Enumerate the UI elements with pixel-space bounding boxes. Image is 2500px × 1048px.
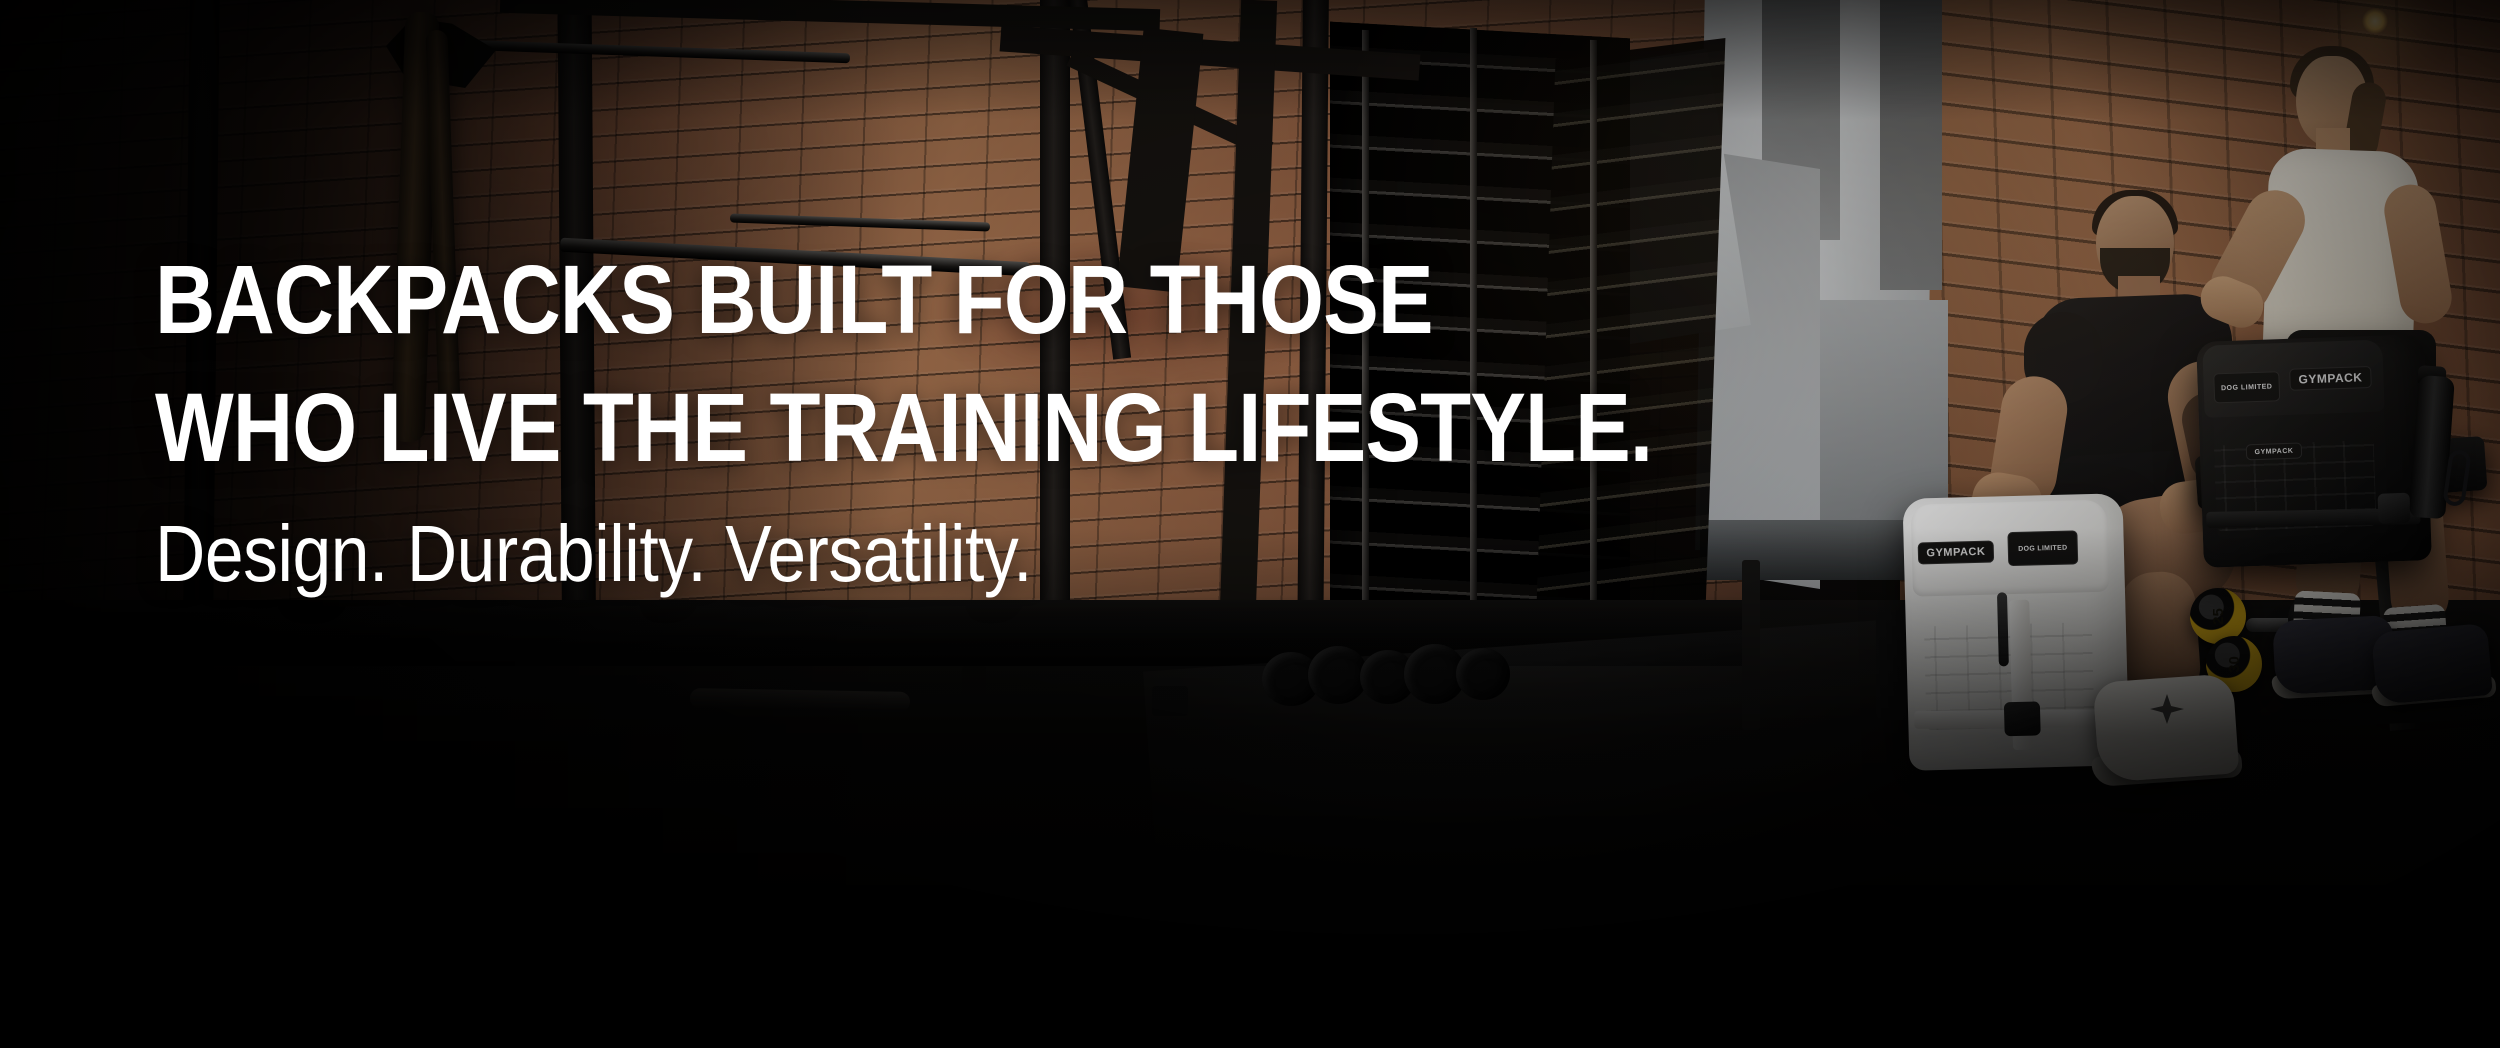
floor-mat-roll bbox=[690, 688, 910, 712]
white-backpack-buckle bbox=[2004, 701, 2041, 736]
black-backpack-buckle bbox=[2378, 493, 2411, 524]
dumbbell-5 bbox=[1456, 648, 1510, 700]
black-backpack-brand-patch: GYMPACK bbox=[2289, 366, 2372, 391]
hero-banner: 25 30 DOG LIMITED GYMPACK GYMPACK bbox=[0, 0, 2500, 1048]
woman-shoe-right bbox=[2371, 623, 2493, 705]
hero-headline: BACKPACKS BUILT FOR THOSE WHO LIVE THE T… bbox=[155, 236, 1652, 492]
hero-subheadline: Design. Durability. Versatility. bbox=[155, 506, 1670, 602]
black-backpack-small-patch: GYMPACK bbox=[2246, 442, 2303, 460]
man-shoe bbox=[2093, 673, 2240, 783]
black-backpack-limited-patch: DOG LIMITED bbox=[2213, 371, 2280, 403]
hero-copy-block: BACKPACKS BUILT FOR THOSE WHO LIVE THE T… bbox=[155, 236, 1896, 602]
headline-line-2: WHO LIVE THE TRAINING LIFESTYLE. bbox=[155, 364, 1652, 492]
dumbbell-2 bbox=[1308, 646, 1368, 704]
white-backpack-limited-patch: DOG LIMITED bbox=[2007, 530, 2078, 566]
weight-plate-small bbox=[1152, 686, 1188, 716]
dumbbell-weight-label-25: 25 bbox=[2210, 608, 2227, 625]
black-backpack[interactable]: DOG LIMITED GYMPACK GYMPACK bbox=[2196, 334, 2432, 568]
floor-object-1 bbox=[962, 666, 986, 700]
dumbbell-weight-label-30: 30 bbox=[2226, 656, 2243, 673]
headline-line-1: BACKPACKS BUILT FOR THOSE bbox=[155, 236, 1652, 364]
white-backpack-brand-patch: GYMPACK bbox=[1918, 541, 1995, 565]
ceiling-lamp-icon bbox=[2362, 8, 2388, 34]
